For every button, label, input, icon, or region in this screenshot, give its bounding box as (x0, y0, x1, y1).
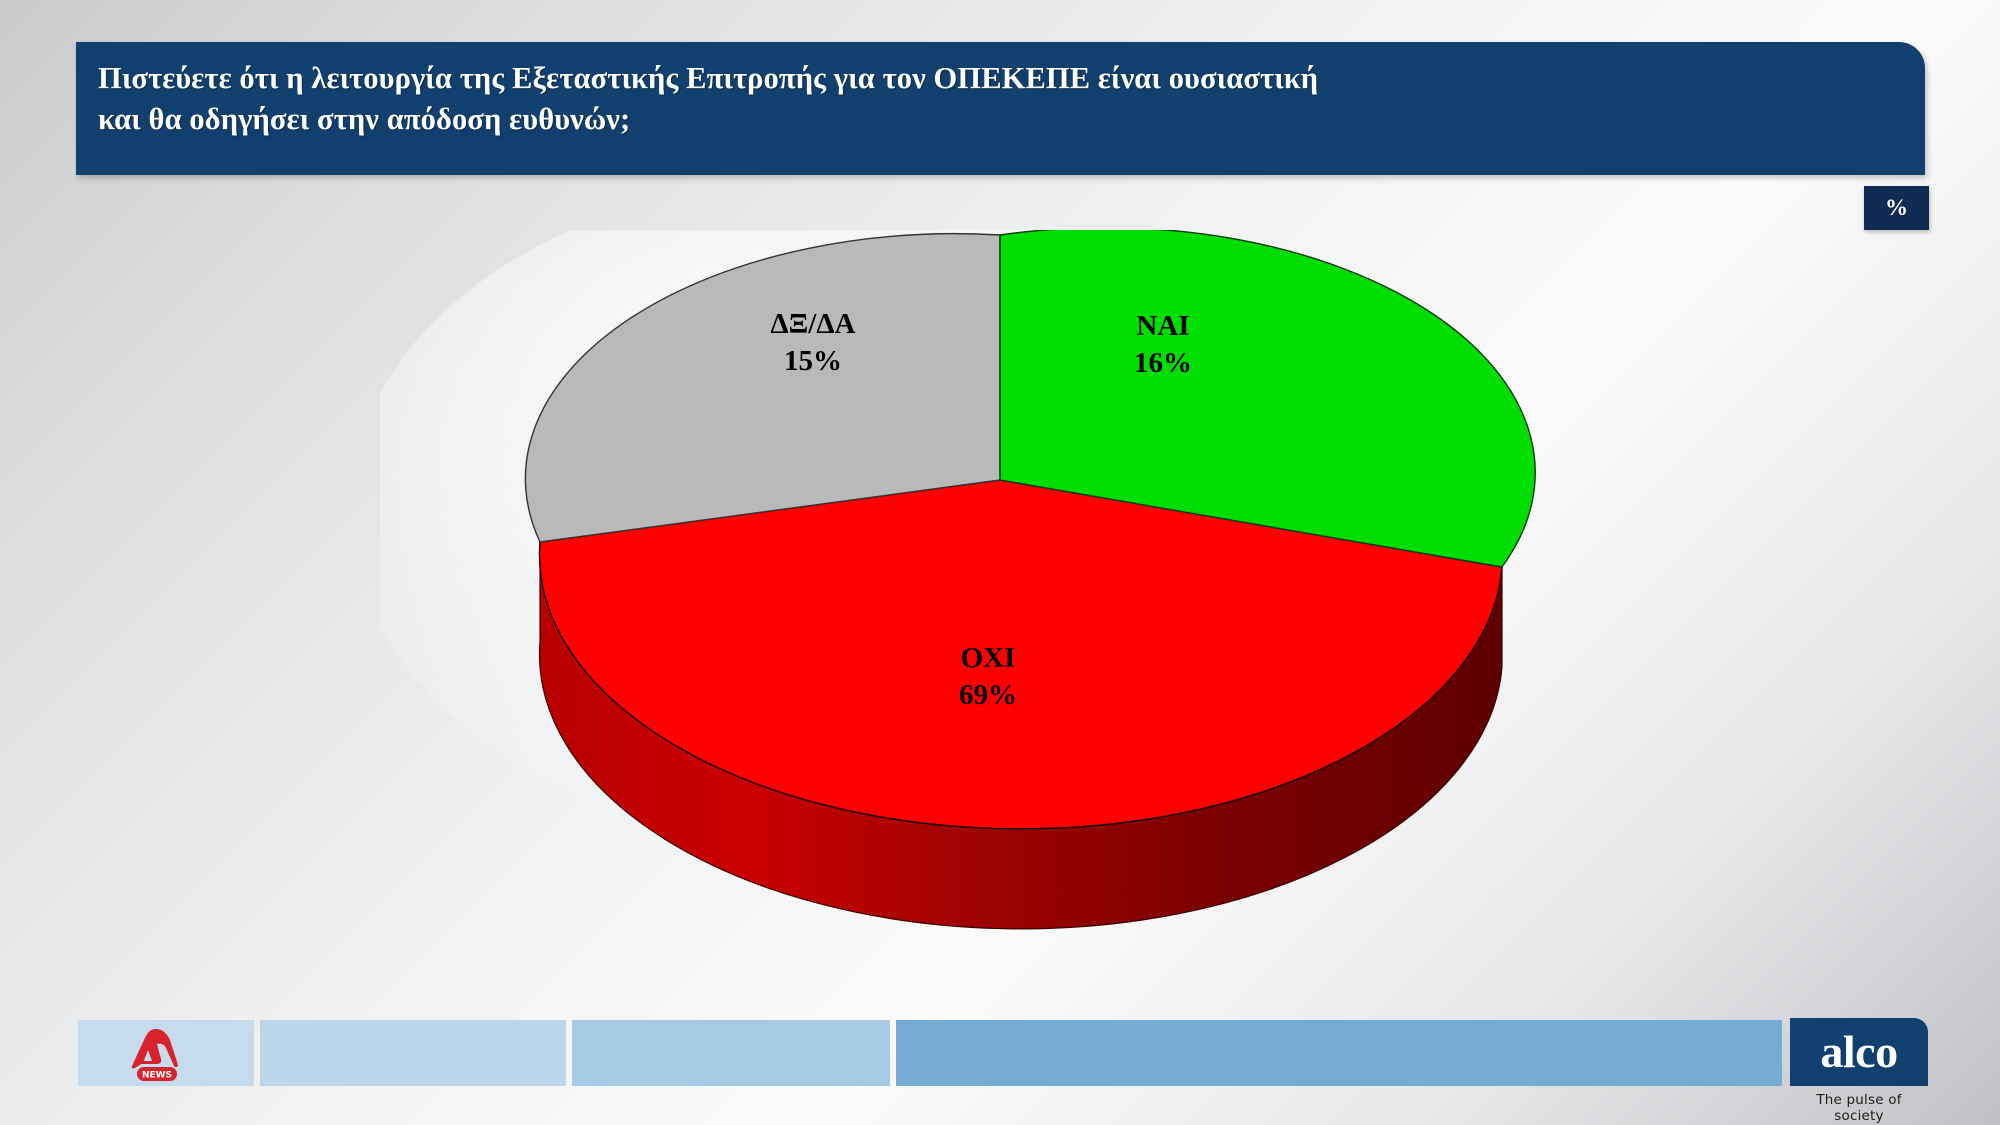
alpha-news-logo-svg: NEWS (126, 1026, 188, 1082)
question-banner: Πιστεύετε ότι η λειτουργία της Εξεταστικ… (76, 42, 1925, 175)
slide-canvas: Πιστεύετε ότι η λειτουργία της Εξεταστικ… (0, 0, 2000, 1125)
alco-tagline: The pulse of society (1790, 1092, 1928, 1124)
alco-logo-box: alco (1790, 1018, 1928, 1086)
percent-unit-label: % (1885, 195, 1908, 221)
footer-segment-three (572, 1020, 890, 1086)
alco-logo: alco The pulse of society (1790, 1018, 1928, 1120)
pie-chart (380, 230, 1620, 970)
footer-segment-two (260, 1020, 566, 1086)
percent-unit-badge: % (1864, 186, 1929, 230)
alpha-letter-a (132, 1029, 178, 1068)
footer-segment-logo: NEWS (78, 1020, 254, 1086)
question-text: Πιστεύετε ότι η λειτουργία της Εξεταστικ… (98, 58, 1899, 139)
news-badge-label: NEWS (142, 1071, 172, 1081)
alpha-news-logo: NEWS (126, 1026, 188, 1082)
footer-bar: NEWS alco The pulse of society (78, 1020, 1926, 1086)
alco-wordmark: alco (1820, 1029, 1897, 1075)
footer-segment-four (896, 1020, 1782, 1086)
pie-chart-svg (380, 230, 1620, 970)
